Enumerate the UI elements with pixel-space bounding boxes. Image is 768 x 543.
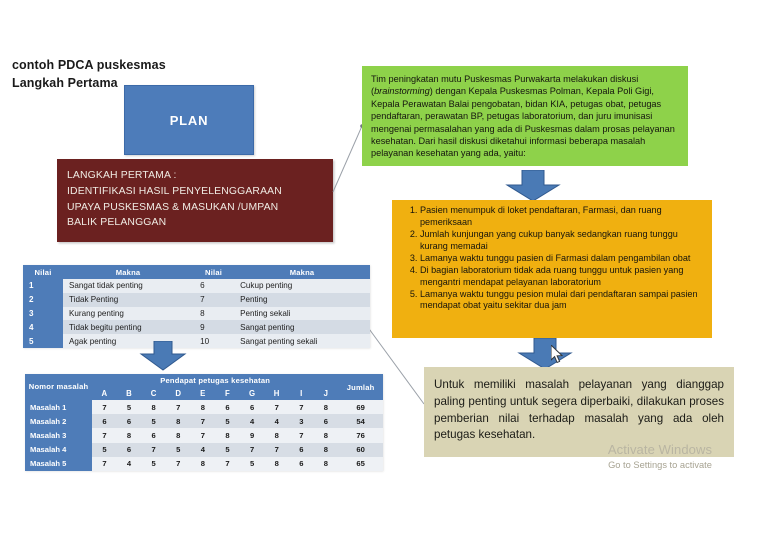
cell-score-g: 4 — [240, 414, 265, 428]
table-header-row-top: Nomor masalah Pendapat petugas kesehatan… — [25, 374, 383, 387]
kesimpulan-beige-box[interactable]: Untuk memiliki masalah pelayanan yang di… — [424, 367, 734, 457]
cell-score-a: 7 — [92, 400, 117, 414]
cell-jumlah: 54 — [338, 414, 383, 428]
cell-score-e: 7 — [191, 414, 216, 428]
score-table-body: Masalah 1758786677869Masalah 26658754436… — [25, 400, 383, 471]
table-row: 2 Tidak Penting 7 Penting — [23, 293, 370, 307]
table-row: 4 Tidak begitu penting 9 Sangat penting — [23, 320, 370, 334]
page-title-line-1: contoh PDCA puskesmas — [12, 56, 272, 74]
cell-score-f: 6 — [215, 400, 240, 414]
cell-nilai-left: 1 — [23, 279, 63, 293]
cell-makna-right: Cukup penting — [234, 279, 370, 293]
cell-masalah-label: Masalah 5 — [25, 457, 92, 471]
column-header-c: C — [141, 387, 166, 400]
list-item: Lamanya waktu tunggu pasien di Farmasi d… — [420, 253, 704, 265]
cell-score-i: 6 — [289, 443, 314, 457]
cell-score-f: 7 — [215, 457, 240, 471]
cell-score-a: 7 — [92, 428, 117, 442]
watermark-subtitle: Go to Settings to activate — [570, 459, 750, 471]
cell-score-e: 8 — [191, 400, 216, 414]
cell-masalah-label: Masalah 1 — [25, 400, 92, 414]
cell-score-i: 7 — [289, 400, 314, 414]
list-item: Pasien menumpuk di loket pendaftaran, Fa… — [420, 205, 704, 228]
plan-box-label: PLAN — [170, 113, 209, 128]
cell-score-g: 6 — [240, 400, 265, 414]
arrow-down-icon-orange-to-beige — [517, 338, 573, 370]
cell-score-d: 8 — [166, 428, 191, 442]
cell-score-g: 9 — [240, 428, 265, 442]
cell-nilai-right: 7 — [193, 293, 234, 307]
cell-score-d: 7 — [166, 400, 191, 414]
arrow-down-icon-table-to-scores — [139, 341, 187, 371]
cell-score-g: 5 — [240, 457, 265, 471]
cell-score-c: 6 — [141, 428, 166, 442]
column-header-d: D — [166, 387, 191, 400]
diskusi-paragraph: Tim peningkatan mutu Puskesmas Purwakart… — [371, 73, 679, 160]
table-row: Masalah 5745787586865 — [25, 457, 383, 471]
cell-nilai-left: 5 — [23, 334, 63, 348]
cell-makna-left: Tidak Penting — [63, 293, 193, 307]
masalah-orange-box[interactable]: Pasien menumpuk di loket pendaftaran, Fa… — [392, 200, 712, 338]
kesimpulan-text: Untuk memiliki masalah pelayanan yang di… — [434, 377, 724, 444]
cell-masalah-label: Masalah 3 — [25, 428, 92, 442]
langkah-line-2: IDENTIFIKASI HASIL PENYELENGGARAAN — [67, 184, 333, 200]
column-header-f: F — [215, 387, 240, 400]
cell-score-j: 6 — [314, 414, 339, 428]
cell-score-b: 4 — [117, 457, 142, 471]
cell-score-j: 8 — [314, 443, 339, 457]
cell-masalah-label: Masalah 2 — [25, 414, 92, 428]
table-row: 5 Agak penting 10 Sangat penting sekali — [23, 334, 370, 348]
cell-score-d: 7 — [166, 457, 191, 471]
cell-score-e: 7 — [191, 428, 216, 442]
cell-score-c: 5 — [141, 457, 166, 471]
cell-score-e: 4 — [191, 443, 216, 457]
cell-makna-right: Sangat penting — [234, 320, 370, 334]
cell-score-b: 6 — [117, 414, 142, 428]
cell-makna-right: Sangat penting sekali — [234, 334, 370, 348]
nilai-makna-table: Nilai Makna Nilai Makna 1 Sangat tidak p… — [23, 265, 370, 348]
table-row: Masalah 1758786677869 — [25, 400, 383, 414]
cell-score-h: 8 — [264, 428, 289, 442]
cell-nilai-left: 4 — [23, 320, 63, 334]
column-header-pendapat-group: Pendapat petugas kesehatan — [92, 374, 338, 387]
diskusi-green-box[interactable]: Tim peningkatan mutu Puskesmas Purwakart… — [362, 66, 688, 166]
score-table: Nomor masalah Pendapat petugas kesehatan… — [25, 374, 383, 471]
langkah-pertama-box[interactable]: LANGKAH PERTAMA : IDENTIFIKASI HASIL PEN… — [57, 159, 333, 242]
cell-score-b: 6 — [117, 443, 142, 457]
table-header-row: Nilai Makna Nilai Makna — [23, 265, 370, 279]
cell-score-i: 6 — [289, 457, 314, 471]
column-header-makna-1: Makna — [63, 265, 193, 279]
cell-score-h: 7 — [264, 400, 289, 414]
cell-score-a: 7 — [92, 457, 117, 471]
column-header-nilai-1: Nilai — [23, 265, 63, 279]
list-item: Jumlah kunjungan yang cukup banyak sedan… — [420, 229, 704, 252]
slide-canvas: contoh PDCA puskesmas Langkah Pertama PL… — [0, 0, 768, 543]
cell-score-h: 8 — [264, 457, 289, 471]
cell-jumlah: 60 — [338, 443, 383, 457]
cell-score-c: 5 — [141, 414, 166, 428]
cell-score-i: 7 — [289, 428, 314, 442]
cell-score-j: 8 — [314, 457, 339, 471]
column-header-nomor-masalah: Nomor masalah — [25, 374, 92, 400]
langkah-line-3: UPAYA PUSKESMAS & MASUKAN /UMPAN — [67, 200, 333, 216]
cell-score-g: 7 — [240, 443, 265, 457]
cell-jumlah: 76 — [338, 428, 383, 442]
cell-masalah-label: Masalah 4 — [25, 443, 92, 457]
cell-score-a: 6 — [92, 414, 117, 428]
cell-makna-left: Sangat tidak penting — [63, 279, 193, 293]
column-header-j: J — [314, 387, 339, 400]
cell-nilai-right: 10 — [193, 334, 234, 348]
cell-makna-left: Tidak begitu penting — [63, 320, 193, 334]
cell-score-d: 5 — [166, 443, 191, 457]
table-row: Masalah 3786878987876 — [25, 428, 383, 442]
cell-nilai-right: 6 — [193, 279, 234, 293]
arrow-down-icon-green-to-orange — [505, 170, 561, 202]
column-header-e: E — [191, 387, 216, 400]
plan-box[interactable]: PLAN — [124, 85, 254, 155]
cell-score-h: 7 — [264, 443, 289, 457]
cell-nilai-right: 8 — [193, 307, 234, 321]
cell-jumlah: 65 — [338, 457, 383, 471]
cell-score-f: 5 — [215, 414, 240, 428]
column-header-jumlah: Jumlah — [338, 374, 383, 400]
column-header-a: A — [92, 387, 117, 400]
table-row: Masalah 2665875443654 — [25, 414, 383, 428]
cell-makna-right: Penting sekali — [234, 307, 370, 321]
list-item: Lamanya waktu tunggu pesion mulai dari p… — [420, 289, 704, 312]
table-row: 3 Kurang penting 8 Penting sekali — [23, 307, 370, 321]
masalah-list: Pasien menumpuk di loket pendaftaran, Fa… — [394, 205, 704, 312]
cell-score-d: 8 — [166, 414, 191, 428]
column-header-h: H — [264, 387, 289, 400]
cell-makna-left: Kurang penting — [63, 307, 193, 321]
cell-score-f: 5 — [215, 443, 240, 457]
mouse-cursor-icon — [551, 345, 564, 369]
diskusi-part-2: ) dengan Kepala Puskesmas Polman, Kepala… — [371, 86, 675, 158]
cell-score-e: 8 — [191, 457, 216, 471]
cell-score-j: 8 — [314, 400, 339, 414]
cell-score-b: 5 — [117, 400, 142, 414]
cell-score-a: 5 — [92, 443, 117, 457]
cell-score-j: 8 — [314, 428, 339, 442]
column-header-makna-2: Makna — [234, 265, 370, 279]
column-header-i: I — [289, 387, 314, 400]
cell-jumlah: 69 — [338, 400, 383, 414]
cell-score-h: 4 — [264, 414, 289, 428]
cell-score-f: 8 — [215, 428, 240, 442]
table-row: 1 Sangat tidak penting 6 Cukup penting — [23, 279, 370, 293]
cell-nilai-right: 9 — [193, 320, 234, 334]
langkah-line-1: LANGKAH PERTAMA : — [67, 168, 333, 184]
cell-nilai-left: 2 — [23, 293, 63, 307]
diskusi-emphasis: brainstorming — [374, 86, 430, 96]
column-header-b: B — [117, 387, 142, 400]
cell-score-c: 7 — [141, 443, 166, 457]
cell-score-c: 8 — [141, 400, 166, 414]
cell-makna-right: Penting — [234, 293, 370, 307]
cell-nilai-left: 3 — [23, 307, 63, 321]
cell-score-i: 3 — [289, 414, 314, 428]
column-header-nilai-2: Nilai — [193, 265, 234, 279]
langkah-line-4: BALIK PELANGGAN — [67, 215, 333, 231]
cell-score-b: 8 — [117, 428, 142, 442]
table-row: Masalah 4567545776860 — [25, 443, 383, 457]
list-item: Di bagian laboratorium tidak ada ruang t… — [420, 265, 704, 288]
column-header-g: G — [240, 387, 265, 400]
